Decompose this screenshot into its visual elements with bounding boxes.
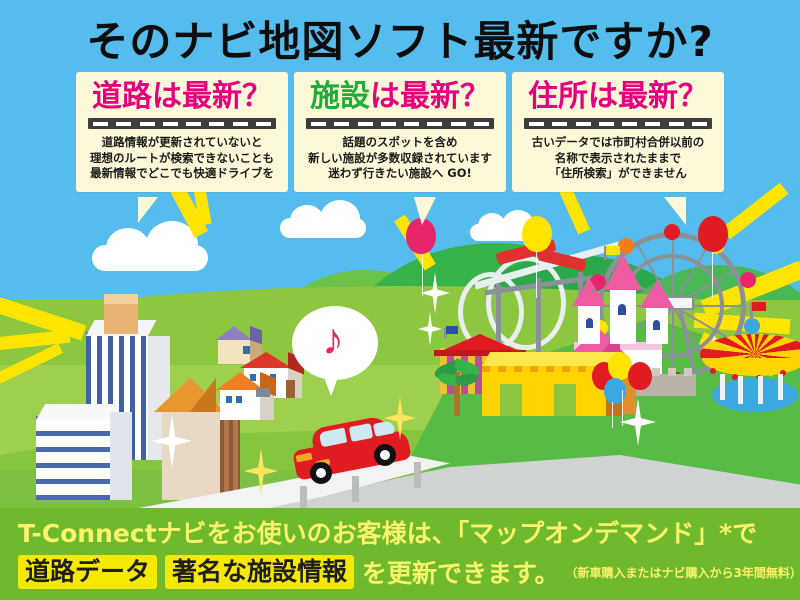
panel-road-heading: 道路は最新？ xyxy=(82,80,282,114)
chip-road-data[interactable]: 道路データ xyxy=(18,555,157,589)
panel-road-body: 道路情報が更新されていないと 理想のルートが検索できないことも 最新情報でどこで… xyxy=(82,135,282,182)
music-note-icon: ♪ xyxy=(322,322,352,364)
panel-road-line-2: 理想のルートが検索できないことも xyxy=(82,151,282,167)
balloon-string xyxy=(712,250,713,298)
panel-facility-line-3: 迷わず行きたい施設へ GO! xyxy=(300,166,500,182)
banner-line-2-tail: を更新できます。 xyxy=(362,554,560,590)
panel-address-heading-main: 住所 xyxy=(528,79,588,114)
tree-icon xyxy=(666,432,696,490)
poster-root: ♪ xyxy=(0,0,800,600)
chip-facility-info[interactable]: 著名な施設情報 xyxy=(165,555,354,589)
panel-road-heading-main: 道路 xyxy=(92,79,152,114)
tree-icon xyxy=(268,418,292,464)
balloon-string xyxy=(612,402,613,428)
tree-icon xyxy=(706,414,732,466)
banner-line-1: T-Connectナビをお使いのお客様は、「マップオンデマンド」*で xyxy=(18,518,790,550)
balloon-icon xyxy=(628,362,652,390)
tree-icon xyxy=(110,456,132,498)
road-dashes-icon xyxy=(306,118,494,129)
panel-facility-tail xyxy=(414,197,436,225)
carousel-icon xyxy=(700,318,800,418)
panel-address-heading: 住所は最新？ xyxy=(518,80,718,114)
panel-road-line-3: 最新情報でどこでも快適ドライブを xyxy=(82,166,282,182)
footer-banner: T-Connectナビをお使いのお客様は、「マップオンデマンド」*で 道路データ… xyxy=(0,508,800,600)
panel-road-line-1: 道路情報が更新されていないと xyxy=(82,135,282,151)
feature-panels: 道路は最新？ 道路情報が更新されていないと 理想のルートが検索できないことも 最… xyxy=(0,72,800,222)
tree-icon xyxy=(742,434,770,488)
balloon-string xyxy=(622,390,623,426)
tree-icon xyxy=(574,436,602,490)
palm-tree-icon xyxy=(436,360,480,416)
music-bubble-tail xyxy=(322,372,340,396)
panel-address-tail xyxy=(664,197,686,225)
panel-address-line-3: 「住所検索」ができません xyxy=(518,166,718,182)
road-dashes-icon xyxy=(524,118,712,129)
banner-footnote: （新車購入またはナビ購入から3年間無料） xyxy=(566,564,800,581)
panel-road-tail xyxy=(138,197,158,223)
panel-address-line-1: 古いデータでは市町村合併以前の xyxy=(518,135,718,151)
panel-road[interactable]: 道路は最新？ 道路情報が更新されていないと 理想のルートが検索できないことも 最… xyxy=(76,72,288,192)
tree-icon xyxy=(620,452,646,502)
tree-icon xyxy=(528,460,552,506)
road-dashes-icon xyxy=(88,118,276,129)
panel-address-line-2: 名称で表示されたままで xyxy=(518,151,718,167)
page-title: そのナビ地図ソフト最新ですか? xyxy=(0,8,800,69)
panel-address-body: 古いデータでは市町村合併以前の 名称で表示されたままで 「住所検索」ができません xyxy=(518,135,718,182)
tree-icon xyxy=(372,360,392,400)
house-orange-roof xyxy=(216,372,278,420)
panel-facility-heading-main: 施設 xyxy=(310,79,370,114)
panel-facility-line-1: 話題のスポットを含め xyxy=(300,135,500,151)
tree-icon xyxy=(772,404,796,452)
panel-facility-heading-rest: は最新？ xyxy=(370,79,490,114)
balloon-string xyxy=(536,250,537,298)
panel-facility-body: 話題のスポットを含め 新しい施設が多数収録されています 迷わず行きたい施設へ G… xyxy=(300,135,500,182)
panel-facility[interactable]: 施設は最新？ 話題のスポットを含め 新しい施設が多数収録されています 迷わず行き… xyxy=(294,72,506,192)
panel-facility-line-2: 新しい施設が多数収録されています xyxy=(300,151,500,167)
banner-line-2: 道路データ 著名な施設情報 を更新できます。 （新車購入またはナビ購入から3年間… xyxy=(18,554,794,590)
panel-facility-heading: 施設は最新？ xyxy=(300,80,500,114)
panel-road-heading-rest: は最新？ xyxy=(152,79,272,114)
panel-address-heading-rest: は最新？ xyxy=(588,79,708,114)
header-bar: そのナビ地図ソフト最新ですか? xyxy=(0,0,800,72)
panel-address[interactable]: 住所は最新？ 古いデータでは市町村合併以前の 名称で表示されたままで 「住所検索… xyxy=(512,72,724,192)
balloon-string xyxy=(422,250,423,296)
